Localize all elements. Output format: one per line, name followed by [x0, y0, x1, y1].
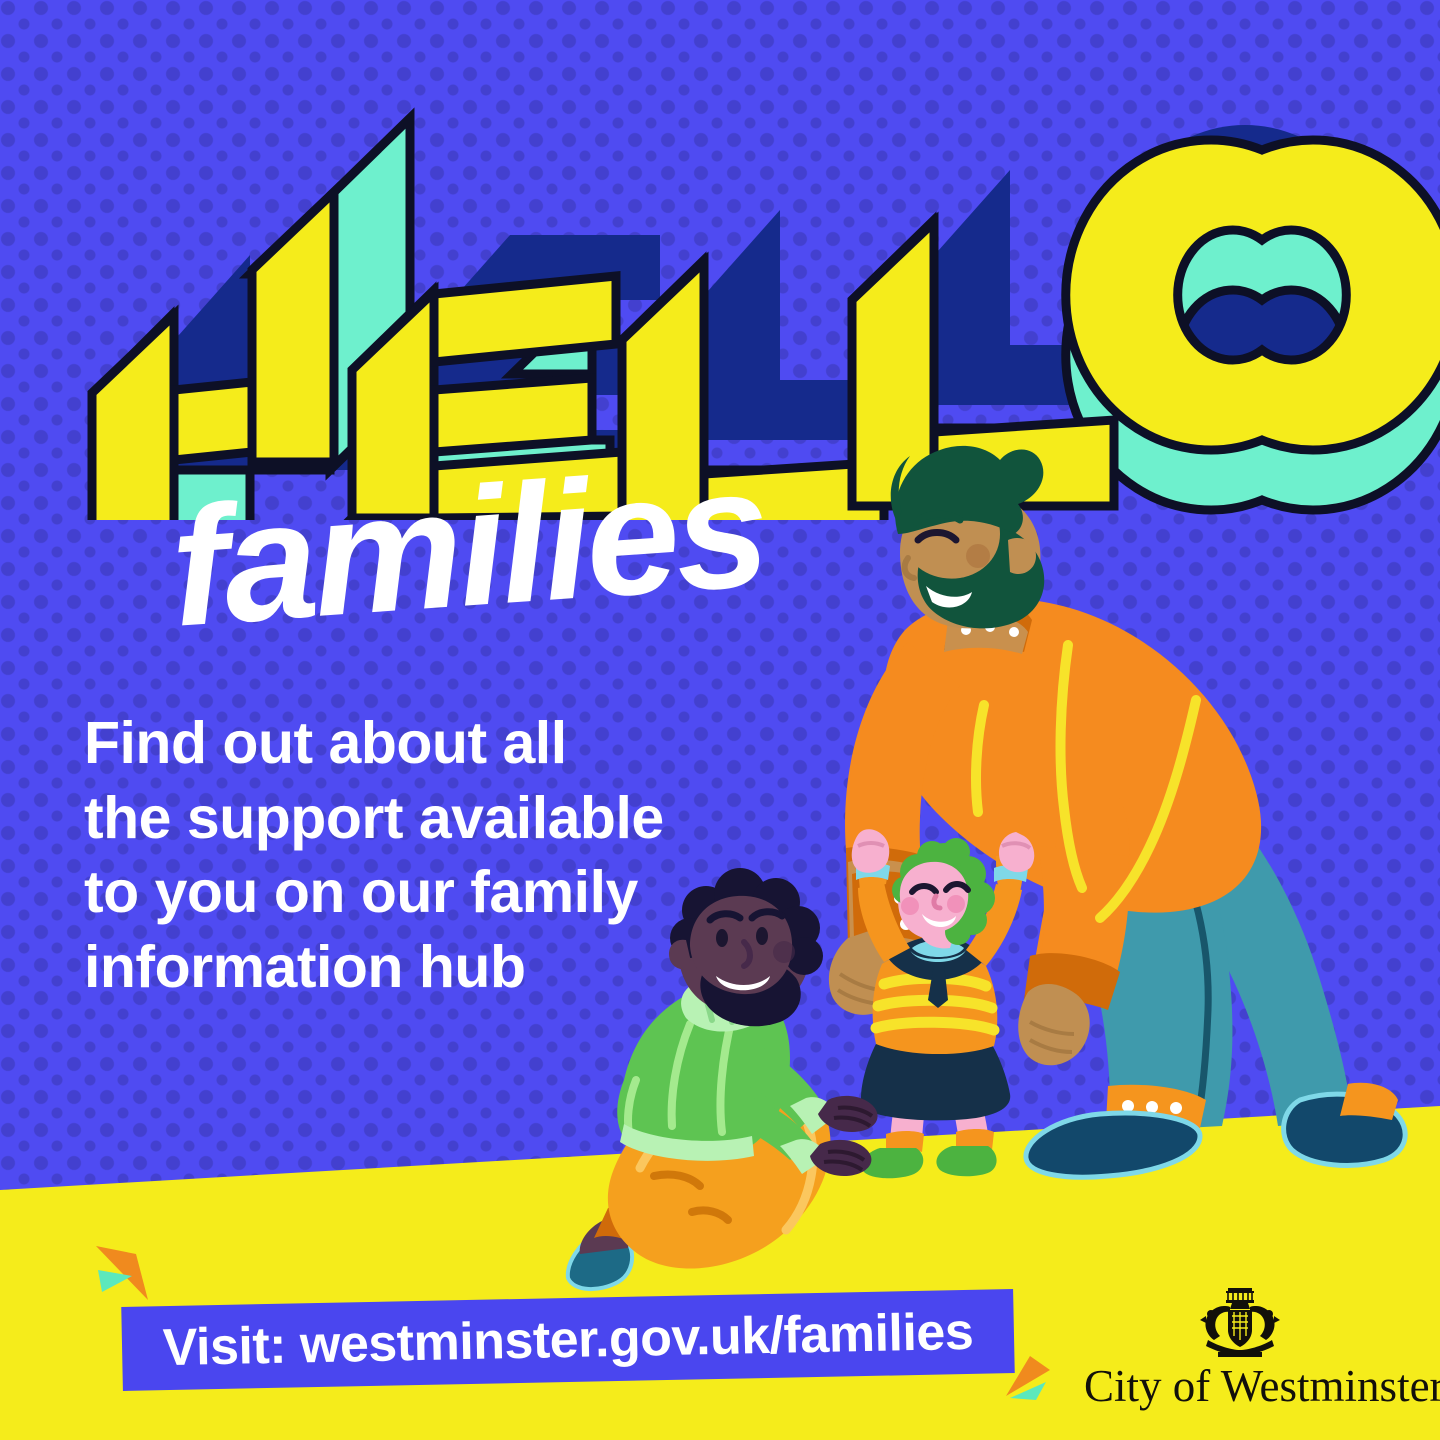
headline-families: families: [166, 443, 770, 652]
body-copy: Find out about all the support available…: [84, 706, 664, 1005]
confetti-streamer-left: [92, 1238, 172, 1308]
poster-canvas: families Find out about all the support …: [0, 0, 1440, 1440]
url-banner[interactable]: Visit: westminster.gov.uk/families: [121, 1289, 1015, 1391]
url-label: Visit: westminster.gov.uk/families: [162, 1302, 974, 1378]
westminster-logo: City of Westminster: [1084, 1286, 1396, 1409]
logo-text: City of Westminster: [1084, 1364, 1396, 1409]
westminster-coat-of-arms-icon: [1192, 1286, 1288, 1360]
